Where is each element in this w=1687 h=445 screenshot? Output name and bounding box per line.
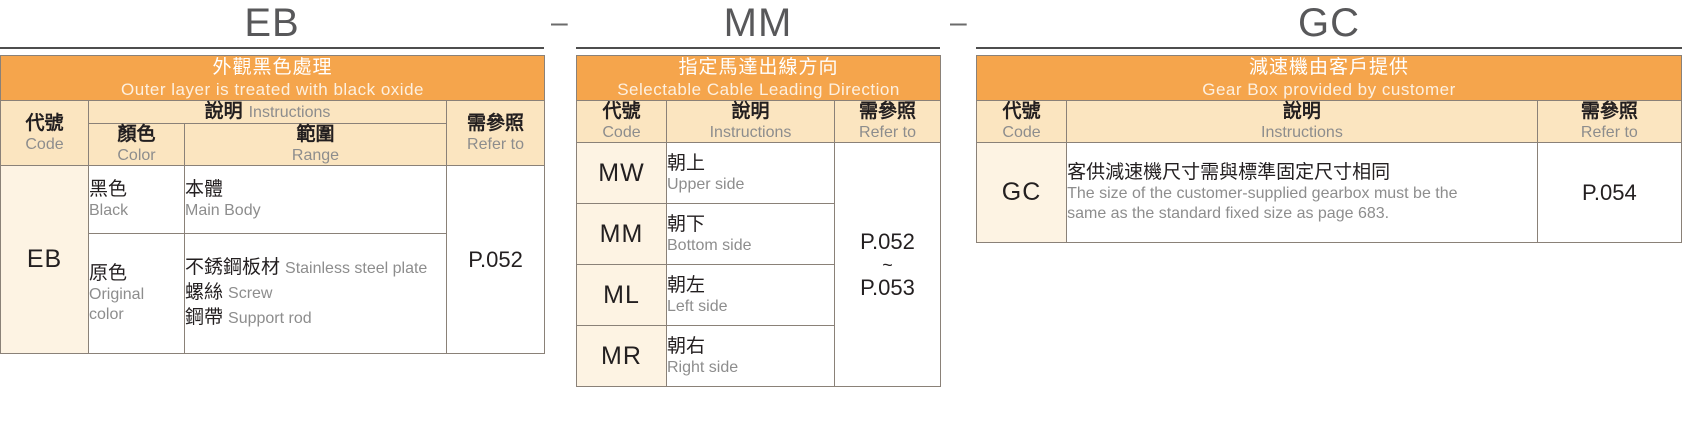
refer-cell-gc: P.054 bbox=[1537, 143, 1681, 243]
header-code-cn: 代號 bbox=[577, 101, 666, 123]
range-en-support-rod: Support rod bbox=[228, 310, 312, 327]
header-range-en: Range bbox=[185, 146, 446, 165]
banner-title-cn: 減速機由客戶提供 bbox=[977, 56, 1681, 79]
table-row-header: 代號 Code 說明 Instructions 需參照 Refer to bbox=[977, 101, 1682, 143]
separator-dash-1: – bbox=[551, 8, 568, 38]
instruction-cell-gc: 客供減速機尺寸需與標準固定尺寸相同 The size of the custom… bbox=[1067, 143, 1538, 243]
banner-title-en: Gear Box provided by customer bbox=[977, 79, 1681, 100]
refer-tilde: ~ bbox=[835, 255, 940, 275]
header-refer-mm: 需參照 Refer to bbox=[835, 101, 941, 143]
header-range-cn: 範圍 bbox=[185, 124, 446, 146]
table-row-header: 代號 Code 說明 Instructions 需參照 Refer to bbox=[577, 101, 941, 143]
code-cell-ml: ML bbox=[577, 265, 667, 326]
color-cell-original: 原色 Original color bbox=[89, 234, 185, 354]
header-code-en: Code bbox=[577, 123, 666, 142]
title-divider-eb bbox=[0, 47, 544, 49]
range-cn-screw: 螺絲 bbox=[185, 282, 223, 303]
instruction-cn-ml: 朝左 bbox=[667, 274, 834, 297]
header-refer-gc: 需參照 Refer to bbox=[1537, 101, 1681, 143]
header-instructions-en: Instructions bbox=[1067, 123, 1537, 142]
range-en-plate: Stainless steel plate bbox=[285, 260, 427, 277]
header-code-cn: 代號 bbox=[1, 113, 88, 135]
instruction-en-gc-line2: same as the standard fixed size as page … bbox=[1067, 204, 1537, 224]
header-instructions-mm: 說明 Instructions bbox=[667, 101, 835, 143]
header-color-eb: 顏色 Color bbox=[89, 124, 185, 166]
refer-cell-eb: P.052 bbox=[447, 166, 545, 354]
code-cell-eb: EB bbox=[1, 166, 89, 354]
instruction-en-gc-line1: The size of the customer-supplied gearbo… bbox=[1067, 184, 1537, 204]
header-refer-en: Refer to bbox=[835, 123, 940, 142]
header-instructions-eb: 說明Instructions bbox=[89, 101, 447, 124]
instruction-cn-gc: 客供減速機尺寸需與標準固定尺寸相同 bbox=[1067, 161, 1537, 184]
table-row-header-top: 代號 Code 說明Instructions 需參照 Refer to bbox=[1, 101, 545, 124]
code-cell-gc: GC bbox=[977, 143, 1067, 243]
header-instructions-gc: 說明 Instructions bbox=[1067, 101, 1538, 143]
table-row-banner: 減速機由客戶提供 Gear Box provided by customer bbox=[977, 56, 1682, 101]
header-code-eb: 代號 Code bbox=[1, 101, 89, 166]
range-line-screw: 螺絲Screw bbox=[185, 281, 446, 306]
color-cell-black: 黑色 Black bbox=[89, 166, 185, 234]
instruction-cell-mw: 朝上 Upper side bbox=[667, 143, 835, 204]
table-row: EB 黑色 Black 本體 Main Body P.052 bbox=[1, 166, 545, 234]
banner-title-cn: 外觀黑色處理 bbox=[1, 56, 544, 79]
instruction-cn-mw: 朝上 bbox=[667, 152, 834, 175]
code-cell-mr: MR bbox=[577, 326, 667, 387]
header-instructions-cn: 說明 bbox=[667, 101, 834, 123]
header-range-eb: 範圍 Range bbox=[185, 124, 447, 166]
option-block-eb: EB 外觀黑色處理 Outer layer is treated with bl… bbox=[0, 0, 544, 354]
range-line-support-rod: 鋼帶Support rod bbox=[185, 306, 446, 331]
table-row-banner: 指定馬達出線方向 Selectable Cable Leading Direct… bbox=[577, 56, 941, 101]
banner-title-en: Selectable Cable Leading Direction bbox=[577, 79, 940, 100]
options-table-page: EB 外觀黑色處理 Outer layer is treated with bl… bbox=[0, 0, 1687, 445]
title-divider-gc bbox=[976, 47, 1682, 49]
range-en-screw: Screw bbox=[228, 285, 272, 302]
range-cn-plate: 不銹鋼板材 bbox=[185, 257, 280, 278]
instruction-cell-mr: 朝右 Right side bbox=[667, 326, 835, 387]
range-cn-main-body: 本體 bbox=[185, 178, 446, 201]
header-instructions-en: Instructions bbox=[667, 123, 834, 142]
banner-title-en: Outer layer is treated with black oxide bbox=[1, 79, 544, 100]
instruction-en-mw: Upper side bbox=[667, 175, 834, 195]
banner-title-cn: 指定馬達出線方向 bbox=[577, 56, 940, 79]
header-refer-en: Refer to bbox=[1538, 123, 1681, 142]
color-en-black: Black bbox=[89, 201, 184, 221]
range-cell-materials: 不銹鋼板材Stainless steel plate 螺絲Screw 鋼帶Sup… bbox=[185, 234, 447, 354]
instruction-en-mm: Bottom side bbox=[667, 236, 834, 256]
header-code-en: Code bbox=[977, 123, 1066, 142]
header-refer-cn: 需參照 bbox=[447, 113, 544, 135]
color-en-original: Original color bbox=[89, 285, 153, 325]
color-cn-black: 黑色 bbox=[89, 178, 184, 201]
header-code-gc: 代號 Code bbox=[977, 101, 1067, 143]
block-title-mm: MM bbox=[576, 0, 940, 46]
title-divider-mm bbox=[576, 47, 940, 49]
option-table-gc: 減速機由客戶提供 Gear Box provided by customer 代… bbox=[976, 55, 1682, 243]
header-color-cn: 顏色 bbox=[89, 124, 184, 146]
table-row: MW 朝上 Upper side P.052 ~ P.053 bbox=[577, 143, 941, 204]
range-line-plate: 不銹鋼板材Stainless steel plate bbox=[185, 256, 446, 281]
option-table-eb: 外觀黑色處理 Outer layer is treated with black… bbox=[0, 55, 545, 354]
instruction-cell-ml: 朝左 Left side bbox=[667, 265, 835, 326]
option-table-mm: 指定馬達出線方向 Selectable Cable Leading Direct… bbox=[576, 55, 941, 387]
instruction-en-mr: Right side bbox=[667, 358, 834, 378]
instruction-cn-mm: 朝下 bbox=[667, 213, 834, 236]
header-refer-cn: 需參照 bbox=[1538, 101, 1681, 123]
header-refer-eb: 需參照 Refer to bbox=[447, 101, 545, 166]
table-row: GC 客供減速機尺寸需與標準固定尺寸相同 The size of the cus… bbox=[977, 143, 1682, 243]
table-row-banner: 外觀黑色處理 Outer layer is treated with black… bbox=[1, 56, 545, 101]
option-block-gc: GC 減速機由客戶提供 Gear Box provided by custome… bbox=[976, 0, 1682, 243]
option-block-mm: MM 指定馬達出線方向 Selectable Cable Leading Dir… bbox=[576, 0, 940, 387]
instruction-cn-mr: 朝右 bbox=[667, 335, 834, 358]
refer-page-to: P.053 bbox=[835, 275, 940, 301]
banner-cell-gc: 減速機由客戶提供 Gear Box provided by customer bbox=[977, 56, 1682, 101]
refer-cell-mm: P.052 ~ P.053 bbox=[835, 143, 941, 387]
header-code-cn: 代號 bbox=[977, 101, 1066, 123]
refer-page-from: P.052 bbox=[835, 229, 940, 255]
header-instructions-cn: 說明 bbox=[205, 101, 243, 122]
header-instructions-en: Instructions bbox=[249, 104, 331, 121]
range-en-main-body: Main Body bbox=[185, 201, 446, 221]
banner-cell-eb: 外觀黑色處理 Outer layer is treated with black… bbox=[1, 56, 545, 101]
header-refer-en: Refer to bbox=[447, 135, 544, 154]
block-title-eb: EB bbox=[0, 0, 544, 46]
instruction-cell-mm: 朝下 Bottom side bbox=[667, 204, 835, 265]
instruction-en-ml: Left side bbox=[667, 297, 834, 317]
header-color-en: Color bbox=[89, 146, 184, 165]
header-instructions-cn: 說明 bbox=[1067, 101, 1537, 123]
header-code-en: Code bbox=[1, 135, 88, 154]
header-refer-cn: 需參照 bbox=[835, 101, 940, 123]
code-cell-mm: MM bbox=[577, 204, 667, 265]
range-cn-support-rod: 鋼帶 bbox=[185, 307, 223, 328]
banner-cell-mm: 指定馬達出線方向 Selectable Cable Leading Direct… bbox=[577, 56, 941, 101]
header-code-mm: 代號 Code bbox=[577, 101, 667, 143]
range-cell-main-body: 本體 Main Body bbox=[185, 166, 447, 234]
color-cn-original: 原色 bbox=[89, 262, 184, 285]
separator-dash-2: – bbox=[950, 8, 967, 38]
block-title-gc: GC bbox=[976, 0, 1682, 46]
code-cell-mw: MW bbox=[577, 143, 667, 204]
